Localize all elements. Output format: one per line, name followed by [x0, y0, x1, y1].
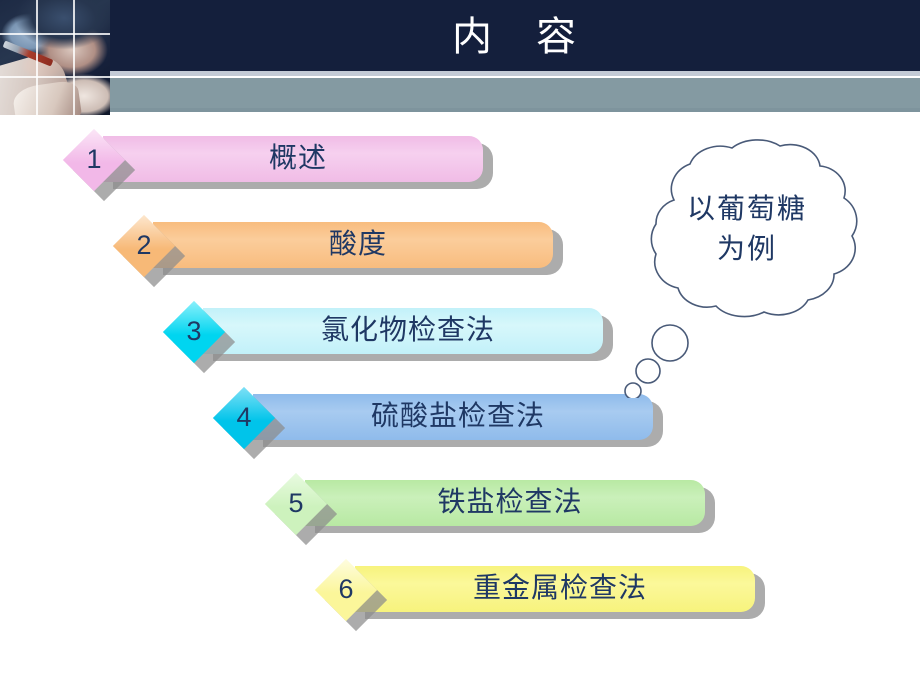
page-title: 内 容 — [110, 8, 920, 68]
photo-grid-line — [0, 76, 110, 78]
agenda-row[interactable]: 酸度2 — [113, 218, 567, 280]
slide-canvas: 内 容 概述1酸度2氯化物检查法3硫酸盐检查法4铁盐检查法5重金属检查法6 以葡… — [0, 0, 920, 690]
header-hairline — [0, 71, 920, 76]
agenda-item-label: 概述 — [123, 136, 473, 182]
agenda-row[interactable]: 硫酸盐检查法4 — [213, 390, 667, 452]
thought-bubble: 以葡萄糖 为例 — [612, 128, 882, 398]
agenda-item-number: 6 — [315, 568, 377, 612]
agenda-item-number: 4 — [213, 396, 275, 440]
agenda-item-number: 3 — [163, 310, 225, 354]
photo-grid-line — [0, 33, 110, 35]
thought-bubble-line-1: 以葡萄糖 — [612, 190, 882, 230]
corner-photo — [0, 0, 110, 115]
agenda-item-number: 2 — [113, 224, 175, 268]
agenda-item-label: 氯化物检查法 — [223, 308, 593, 354]
agenda-row[interactable]: 氯化物检查法3 — [163, 304, 617, 366]
agenda-row[interactable]: 概述1 — [63, 132, 497, 194]
photo-grid-line — [36, 0, 38, 115]
agenda-item-label: 硫酸盐检查法 — [273, 394, 643, 440]
photo-grid-line — [73, 0, 75, 115]
agenda-row[interactable]: 重金属检查法6 — [315, 562, 769, 624]
thought-bubble-text: 以葡萄糖 为例 — [612, 190, 882, 270]
header-gray-underline — [0, 108, 920, 112]
thought-bubble-line-2: 为例 — [612, 230, 882, 270]
agenda-item-number: 5 — [265, 482, 327, 526]
agenda-item-label: 铁盐检查法 — [325, 480, 695, 526]
agenda-item-label: 重金属检查法 — [375, 566, 745, 612]
agenda-item-number: 1 — [63, 138, 125, 182]
agenda-item-label: 酸度 — [173, 222, 543, 268]
header-gray-band — [0, 78, 920, 112]
agenda-row[interactable]: 铁盐检查法5 — [265, 476, 719, 538]
